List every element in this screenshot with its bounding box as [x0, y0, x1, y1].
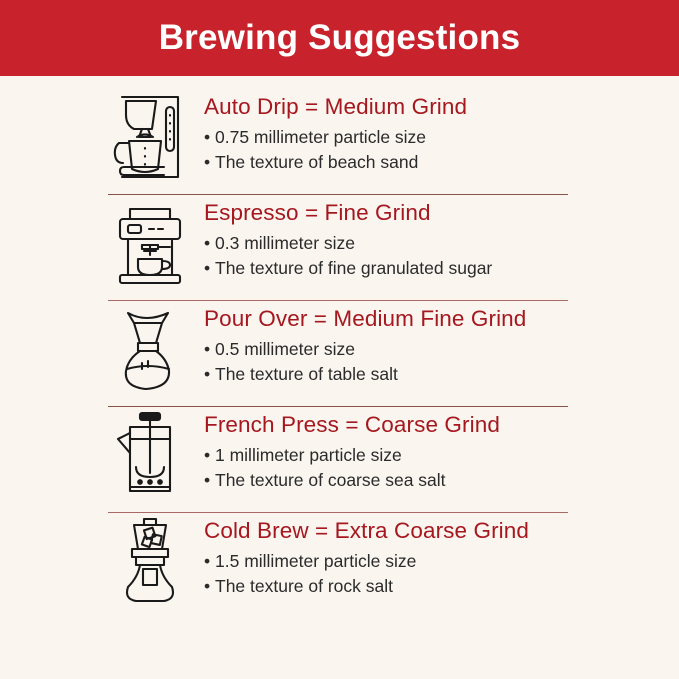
brew-heading-pour-over: Pour Over = Medium Fine Grind: [204, 307, 679, 332]
brew-row-text: Espresso = Fine Grind •0.3 millimeter si…: [204, 195, 679, 281]
bullet-glyph: •: [204, 150, 215, 175]
list-item: •0.3 millimeter size: [204, 231, 679, 256]
bullet-glyph: •: [204, 443, 215, 468]
bullet-text: The texture of beach sand: [215, 152, 418, 172]
list-item: •1.5 millimeter particle size: [204, 549, 679, 574]
list-item: •The texture of coarse sea salt: [204, 468, 679, 493]
list-item: •The texture of fine granulated sugar: [204, 256, 679, 281]
bullet-text: The texture of coarse sea salt: [215, 470, 446, 490]
bullet-glyph: •: [204, 362, 215, 387]
list-item: •0.5 millimeter size: [204, 337, 679, 362]
page-title: Brewing Suggestions: [159, 20, 521, 57]
brew-row-pour-over: Pour Over = Medium Fine Grind •0.5 milli…: [0, 301, 679, 406]
bullet-text: The texture of rock salt: [215, 576, 393, 596]
brew-heading-espresso: Espresso = Fine Grind: [204, 201, 679, 226]
brew-row-cold-brew: Cold Brew = Extra Coarse Grind •1.5 mill…: [0, 513, 679, 618]
bullet-glyph: •: [204, 337, 215, 362]
bullet-text: 0.75 millimeter particle size: [215, 127, 426, 147]
bullet-glyph: •: [204, 468, 215, 493]
header-band: Brewing Suggestions: [0, 0, 679, 76]
brew-row-text: Cold Brew = Extra Coarse Grind •1.5 mill…: [204, 513, 679, 599]
brew-row-espresso: Espresso = Fine Grind •0.3 millimeter si…: [0, 195, 679, 300]
bullet-glyph: •: [204, 256, 215, 281]
espresso-machine-icon: [112, 195, 204, 289]
brew-bullets-pour-over: •0.5 millimeter size •The texture of tab…: [204, 337, 679, 387]
auto-drip-coffee-maker-icon: [112, 89, 204, 183]
brew-heading-auto-drip: Auto Drip = Medium Grind: [204, 95, 679, 120]
brew-heading-french-press: French Press = Coarse Grind: [204, 413, 679, 438]
french-press-icon: [112, 407, 204, 501]
brew-method-list: Auto Drip = Medium Grind •0.75 millimete…: [0, 76, 679, 618]
brew-bullets-espresso: •0.3 millimeter size •The texture of fin…: [204, 231, 679, 281]
bullet-text: 0.5 millimeter size: [215, 339, 355, 359]
bullet-text: 1 millimeter particle size: [215, 445, 402, 465]
bullet-text: 1.5 millimeter particle size: [215, 551, 416, 571]
bullet-text: The texture of fine granulated sugar: [215, 258, 492, 278]
cold-brew-tower-icon: [112, 513, 204, 607]
bullet-glyph: •: [204, 574, 215, 599]
brewing-suggestions-infographic: Brewing Suggestions: [0, 0, 679, 679]
brew-row-text: Pour Over = Medium Fine Grind •0.5 milli…: [204, 301, 679, 387]
bullet-glyph: •: [204, 231, 215, 256]
brew-row-auto-drip: Auto Drip = Medium Grind •0.75 millimete…: [0, 89, 679, 194]
brew-bullets-cold-brew: •1.5 millimeter particle size •The textu…: [204, 549, 679, 599]
pour-over-chemex-icon: [112, 301, 204, 395]
brew-bullets-french-press: •1 millimeter particle size •The texture…: [204, 443, 679, 493]
brew-heading-cold-brew: Cold Brew = Extra Coarse Grind: [204, 519, 679, 544]
list-item: •0.75 millimeter particle size: [204, 125, 679, 150]
list-item: •The texture of rock salt: [204, 574, 679, 599]
list-item: •1 millimeter particle size: [204, 443, 679, 468]
bullet-glyph: •: [204, 549, 215, 574]
brew-row-text: Auto Drip = Medium Grind •0.75 millimete…: [204, 89, 679, 175]
brew-bullets-auto-drip: •0.75 millimeter particle size •The text…: [204, 125, 679, 175]
brew-row-text: French Press = Coarse Grind •1 millimete…: [204, 407, 679, 493]
list-item: •The texture of beach sand: [204, 150, 679, 175]
bullet-text: The texture of table salt: [215, 364, 398, 384]
list-item: •The texture of table salt: [204, 362, 679, 387]
brew-row-french-press: French Press = Coarse Grind •1 millimete…: [0, 407, 679, 512]
bullet-text: 0.3 millimeter size: [215, 233, 355, 253]
bullet-glyph: •: [204, 125, 215, 150]
